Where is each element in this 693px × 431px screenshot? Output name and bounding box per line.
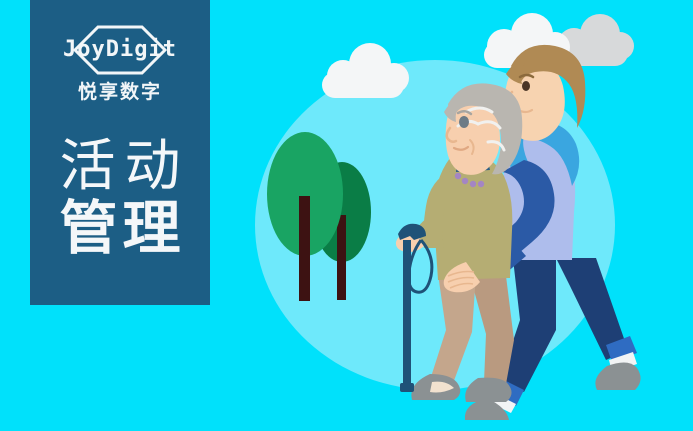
brand-chinese-name: 悦享数字 [78, 83, 162, 102]
cloud-left [322, 43, 409, 98]
poster-canvas: JoyDigit 悦享数字 活动 管理 [0, 0, 693, 431]
info-panel: JoyDigit 悦享数字 活动 管理 [30, 0, 210, 305]
page-title-line2: 管理 [51, 200, 190, 258]
page-title-line1: 活动 [51, 138, 190, 194]
page-title: 活动 管理 [51, 138, 190, 258]
brand-lockup: JoyDigit [46, 24, 194, 76]
brand-wordmark: JoyDigit [63, 39, 177, 61]
